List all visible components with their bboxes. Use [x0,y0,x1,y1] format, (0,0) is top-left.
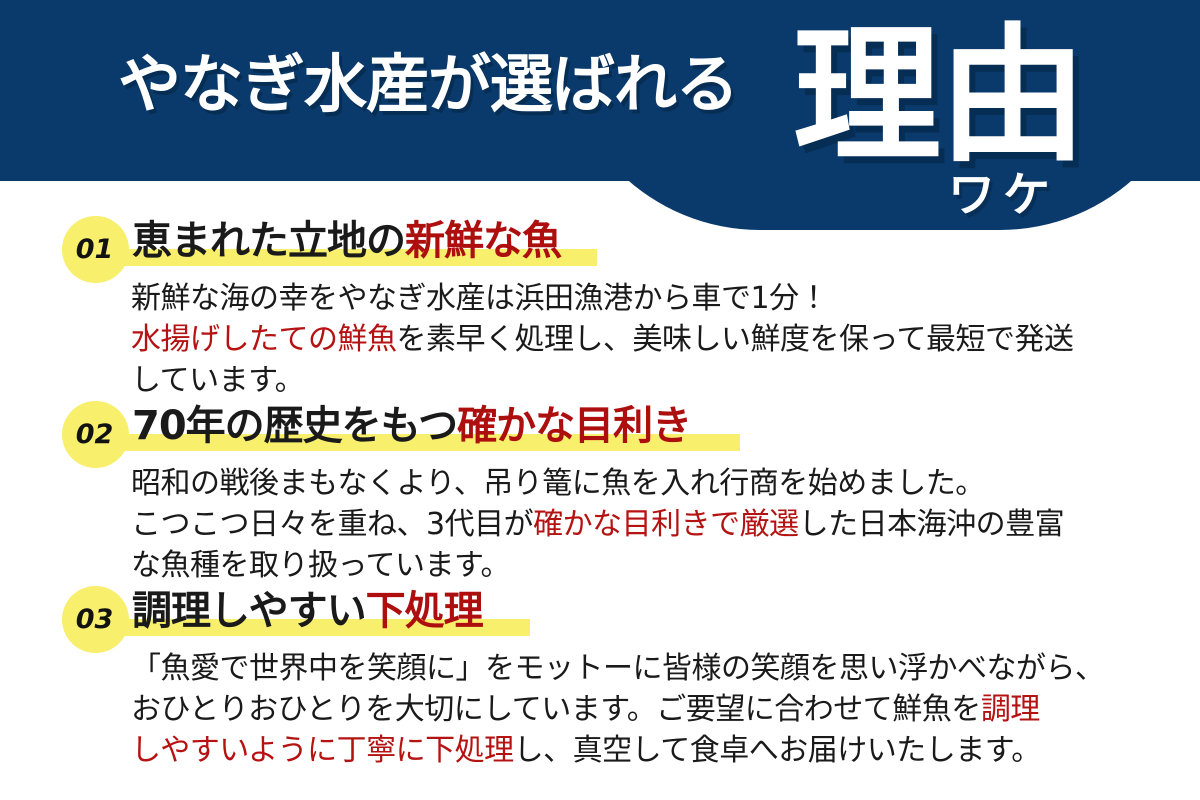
body-run: 「魚愛で世界中を笑顔に」をモットーに皆様の笑顔を思い浮かべながら、 [131,651,1105,686]
body-line: しやすいように丁寧に下処理し、真空して食卓へお届けいたします。 [131,730,1105,771]
reason-heading-plain-03: 調理しやすい [132,588,366,634]
body-run: おひとりおひとりを大切にしています。ご要望に合わせて鮮魚を [131,692,981,727]
body-accent-run: 水揚げしたての鮮魚 [131,322,397,357]
reason-number-label-02: 02 [62,401,129,468]
promo-page: やなぎ水産が選ばれる 理由 ワケ 01 恵まれた立地の新鮮な魚 新鮮な海の幸をや… [0,0,1200,800]
reason-body-01: 新鮮な海の幸をやなぎ水産は浜田漁港から車で1分！水揚げしたての鮮魚を素早く処理し… [131,278,1074,401]
reason-body-03: 「魚愛で世界中を笑顔に」をモットーに皆様の笑顔を思い浮かべながら、おひとりおひと… [131,648,1105,771]
body-run: 昭和の戦後まもなくより、吊り篭に魚を入れ行商を始めました。 [131,466,985,501]
body-line: 新鮮な海の幸をやなぎ水産は浜田漁港から車で1分！ [131,278,1074,319]
body-line: な魚種を取り扱っています。 [131,545,1064,586]
reason-heading-02: 70年の歴史をもつ確かな目利き [132,406,691,446]
reason-heading-plain-01: 恵まれた立地の [132,218,405,264]
reason-heading-plain-02: 70年の歴史をもつ [132,403,457,449]
reason-number-label-03: 03 [62,586,129,653]
reason-number-badge-03: 03 [62,586,129,653]
body-line: 「魚愛で世界中を笑顔に」をモットーに皆様の笑顔を思い浮かべながら、 [131,648,1105,689]
reason-number-label-01: 01 [62,216,129,283]
body-line: しています。 [131,360,1074,401]
body-run: こつこつ日々を重ね、3代目が [131,507,533,542]
body-run: しています。 [131,363,304,398]
reason-heading-03: 調理しやすい下処理 [132,591,483,631]
body-line: 昭和の戦後まもなくより、吊り篭に魚を入れ行商を始めました。 [131,463,1064,504]
body-line: 水揚げしたての鮮魚を素早く処理し、美味しい鮮度を保って最短で発送 [131,319,1074,360]
reason-heading-accent-02: 確かな目利き [457,403,691,449]
reason-number-badge-02: 02 [62,401,129,468]
reason-body-02: 昭和の戦後まもなくより、吊り篭に魚を入れ行商を始めました。こつこつ日々を重ね、3… [131,463,1064,586]
reason-heading-01: 恵まれた立地の新鮮な魚 [132,221,561,261]
reason-heading-accent-03: 下処理 [366,588,483,634]
body-accent-run: しやすいように丁寧に下処理 [131,733,514,768]
header-title: やなぎ水産が選ばれる [118,53,738,116]
body-line: こつこつ日々を重ね、3代目が確かな目利きで厳選した日本海沖の豊富 [131,504,1064,545]
body-run: を素早く処理し、美味しい鮮度を保って最短で発送 [397,322,1074,357]
body-run: 新鮮な海の幸をやなぎ水産は浜田漁港から車で1分！ [131,281,828,316]
header: やなぎ水産が選ばれる 理由 ワケ [0,0,1200,240]
header-reason-kanji: 理由 [793,22,1085,170]
body-run: な魚種を取り扱っています。 [131,548,510,583]
body-run: した日本海沖の豊富 [799,507,1065,542]
reason-number-badge-01: 01 [62,216,129,283]
body-accent-run: 確かな目利きで厳選 [533,507,799,542]
body-line: おひとりおひとりを大切にしています。ご要望に合わせて鮮魚を調理 [131,689,1105,730]
body-accent-run: 調理 [981,692,1040,727]
reason-heading-accent-01: 新鮮な魚 [405,218,561,264]
header-reason-kana: ワケ [948,172,1058,219]
body-run: し、真空して食卓へお届けいたします。 [514,733,1041,768]
